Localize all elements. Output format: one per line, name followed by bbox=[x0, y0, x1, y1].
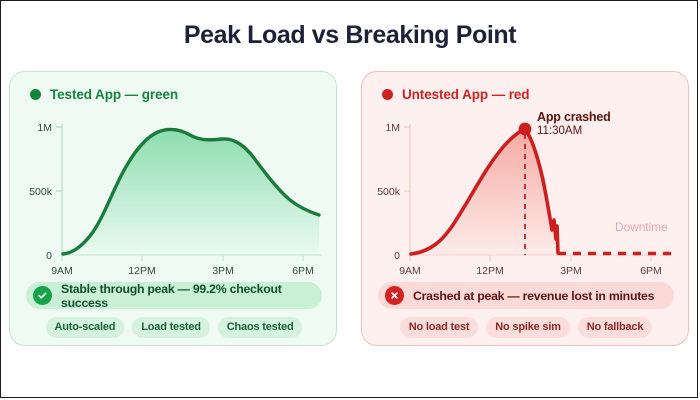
tag-chaos-tested[interactable]: Chaos tested bbox=[218, 317, 303, 338]
y-tick-label-0: 0 bbox=[46, 250, 52, 262]
tag-list-untested: No load test No spike sim No fallback bbox=[378, 317, 674, 338]
data-point-marker-icon[interactable] bbox=[519, 123, 532, 136]
tag-no-load-test[interactable]: No load test bbox=[400, 317, 479, 338]
tag-load-tested[interactable]: Load tested bbox=[132, 317, 210, 338]
y-tick-label-1m: 1M bbox=[37, 122, 52, 134]
x-tick-label-9am: 9AM bbox=[51, 265, 73, 277]
page-title: Peak Load vs Breaking Point bbox=[1, 21, 699, 50]
y-tick-label-0: 0 bbox=[394, 250, 400, 262]
x-tick-label-9am: 9AM bbox=[399, 265, 421, 277]
tag-no-spike-sim[interactable]: No spike sim bbox=[486, 317, 569, 338]
x-tick-label-12pm: 12PM bbox=[476, 265, 503, 277]
chart-tested-app: 1M 500k 0 9AM 12PM 3PM 6PM bbox=[10, 112, 338, 292]
panel-tested-app: Tested App — green bbox=[9, 71, 337, 346]
legend-tested: Tested App — green bbox=[30, 87, 178, 102]
x-tick-label-3pm: 3PM bbox=[212, 265, 234, 277]
status-text-tested: Stable through peak — 99.2% checkout suc… bbox=[61, 282, 322, 310]
legend-label-untested: Untested App — red bbox=[402, 87, 529, 102]
crash-annotation: App crashed 11:30AM bbox=[537, 110, 611, 139]
crash-annotation-title: App crashed bbox=[537, 110, 611, 124]
crash-annotation-time: 11:30AM bbox=[537, 125, 611, 138]
tag-auto-scaled[interactable]: Auto-scaled bbox=[46, 317, 125, 338]
filled-circle-icon bbox=[30, 89, 41, 100]
legend-untested: Untested App — red bbox=[382, 87, 529, 102]
status-badge-tested: Stable through peak — 99.2% checkout suc… bbox=[26, 282, 322, 309]
downtime-label: Downtime bbox=[615, 220, 668, 234]
status-badge-untested: Crashed at peak — revenue lost in minute… bbox=[378, 282, 674, 309]
panel-untested-app: Untested App — red 1M 50 bbox=[361, 71, 689, 346]
chart-untested-app: 1M 500k 0 9AM 12PM 3PM 6PM bbox=[362, 112, 690, 292]
filled-circle-icon bbox=[382, 89, 393, 100]
legend-label-tested: Tested App — green bbox=[50, 87, 178, 102]
y-tick-label-500k: 500k bbox=[29, 186, 53, 198]
status-text-untested: Crashed at peak — revenue lost in minute… bbox=[413, 289, 654, 303]
screenshot-canvas: Peak Load vs Breaking Point Tested App —… bbox=[0, 0, 698, 398]
x-circle-icon bbox=[385, 286, 404, 305]
x-tick-label-3pm: 3PM bbox=[560, 265, 582, 277]
tag-list-tested: Auto-scaled Load tested Chaos tested bbox=[26, 317, 322, 338]
tag-no-fallback[interactable]: No fallback bbox=[578, 317, 653, 338]
y-tick-label-500k: 500k bbox=[377, 186, 401, 198]
y-tick-label-1m: 1M bbox=[385, 122, 400, 134]
x-tick-label-12pm: 12PM bbox=[128, 265, 155, 277]
x-tick-label-6pm: 6PM bbox=[292, 265, 314, 277]
check-circle-icon bbox=[33, 286, 52, 305]
x-tick-label-6pm: 6PM bbox=[640, 265, 662, 277]
